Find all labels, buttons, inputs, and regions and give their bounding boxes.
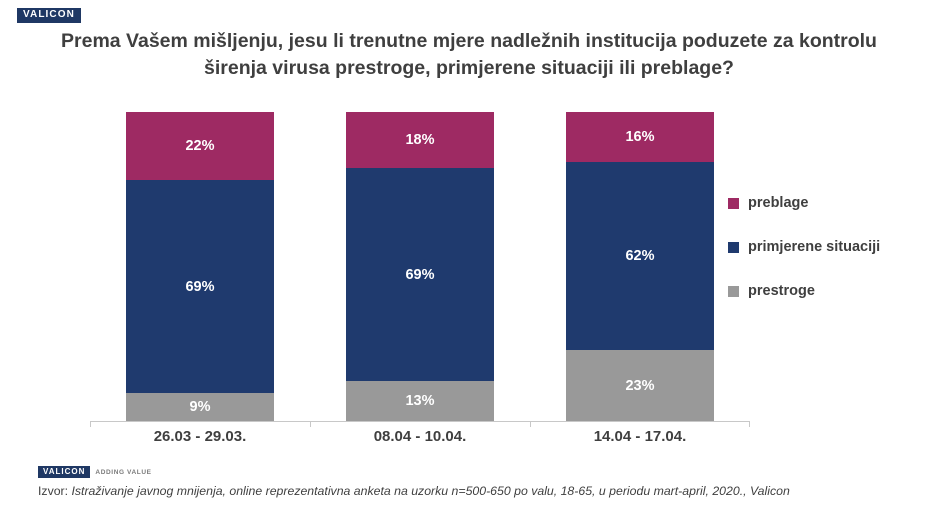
valicon-logo-footer: VALICON ADDING VALUE [38, 466, 152, 478]
chart-legend: preblage primjerene situaciji prestroge [728, 195, 880, 327]
bar-segment-preblage: 22% [126, 112, 274, 180]
legend-item-prestroge: prestroge [728, 283, 880, 299]
bar-segment-primjerene: 62% [566, 162, 714, 350]
legend-item-primjerene-situaciji: primjerene situaciji [728, 239, 880, 255]
source-prefix: Izvor: [38, 484, 71, 498]
bar-group: 22% 69% 9% [126, 112, 274, 421]
axis-tick [310, 422, 311, 427]
bar-segment-prestroge: 13% [346, 381, 494, 421]
bar-group: 18% 69% 13% [346, 112, 494, 421]
stacked-bar-chart: 22% 69% 9% 18% 69% 13% 16% 62% 23% [90, 112, 750, 422]
bar-segment-primjerene: 69% [126, 180, 274, 393]
x-axis-label: 08.04 - 10.04. [330, 428, 510, 445]
source-text: Istraživanje javnog mnijenja, online rep… [71, 484, 789, 498]
legend-label: prestroge [748, 283, 815, 299]
legend-swatch-icon [728, 198, 739, 209]
bar-segment-preblage: 18% [346, 112, 494, 168]
x-axis-label: 14.04 - 17.04. [550, 428, 730, 445]
x-axis-label: 26.03 - 29.03. [110, 428, 290, 445]
legend-item-preblage: preblage [728, 195, 880, 211]
axis-tick [749, 422, 750, 427]
legend-swatch-icon [728, 286, 739, 297]
legend-label: primjerene situaciji [748, 239, 880, 255]
x-axis-line [90, 421, 750, 422]
valicon-logo-top: VALICON [17, 8, 81, 23]
legend-swatch-icon [728, 242, 739, 253]
bar-segment-prestroge: 23% [566, 350, 714, 421]
valicon-logo-footer-box: VALICON [38, 466, 90, 478]
bar-segment-primjerene: 69% [346, 168, 494, 381]
bar-group: 16% 62% 23% [566, 112, 714, 421]
x-axis-labels: 26.03 - 29.03. 08.04 - 10.04. 14.04 - 17… [90, 428, 750, 450]
valicon-tagline: ADDING VALUE [95, 469, 151, 476]
bar-segment-prestroge: 9% [126, 393, 274, 421]
bar-segment-preblage: 16% [566, 112, 714, 162]
legend-label: preblage [748, 195, 808, 211]
axis-tick [90, 422, 91, 427]
page-title: Prema Vašem mišljenju, jesu li trenutne … [60, 28, 878, 82]
source-note: Izvor: Istraživanje javnog mnijenja, onl… [38, 484, 790, 498]
axis-tick [530, 422, 531, 427]
